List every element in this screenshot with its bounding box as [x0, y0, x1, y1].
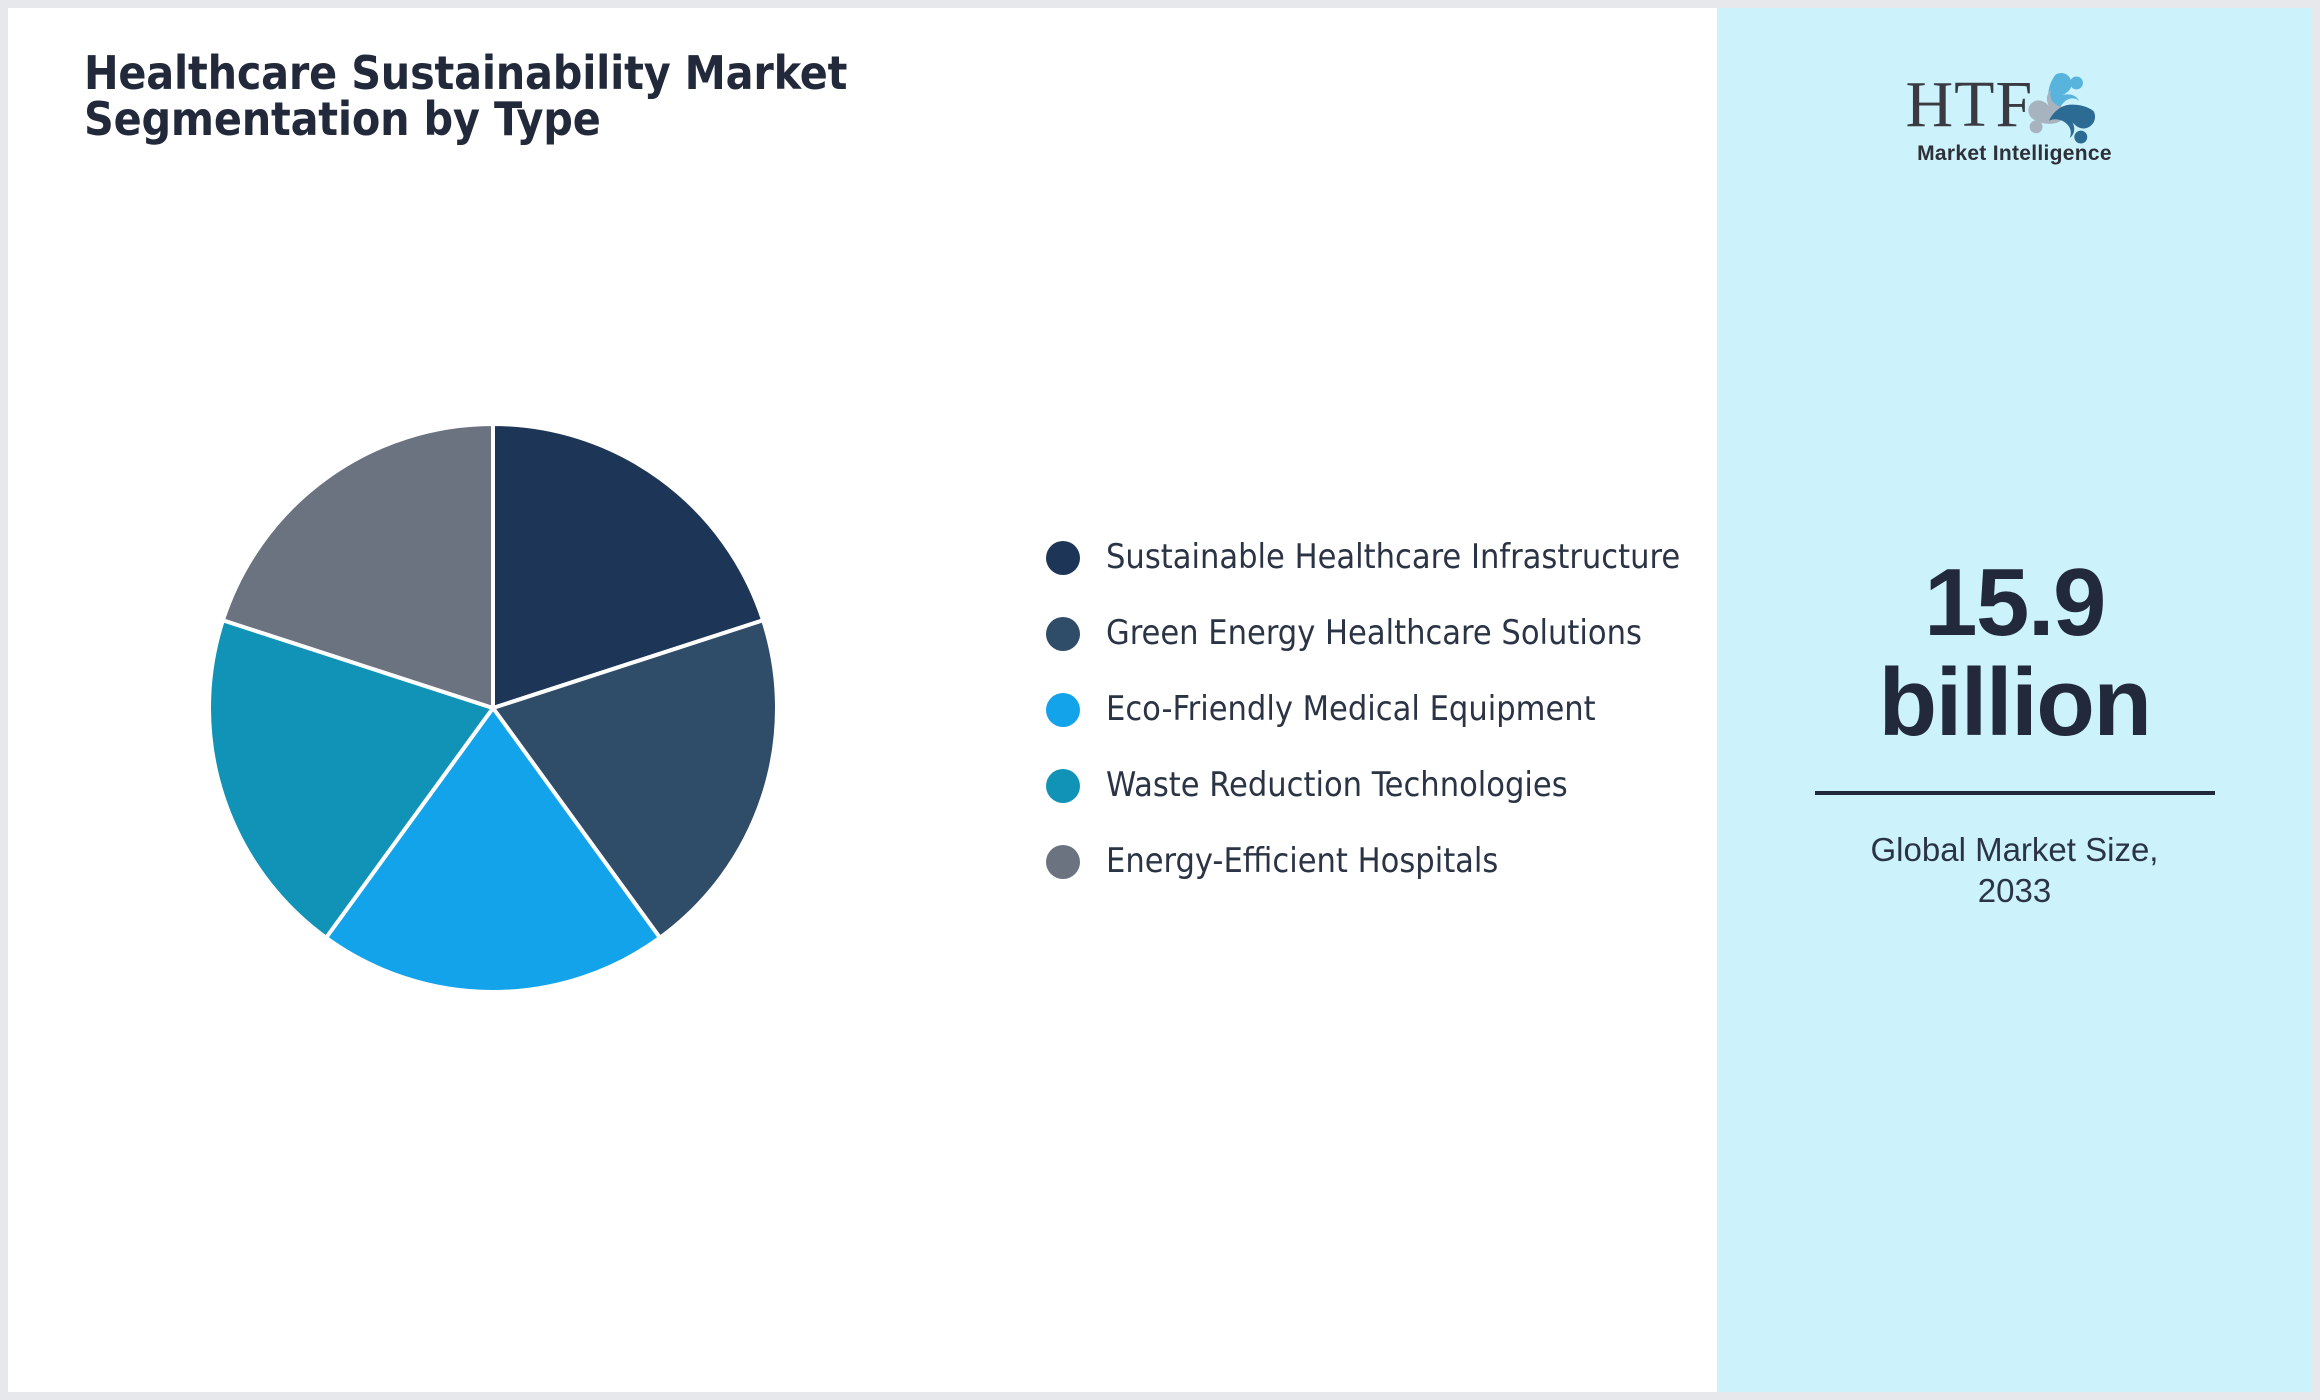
legend-swatch-icon	[1046, 769, 1080, 803]
legend-item-waste-reduction-technologies[interactable]: Waste Reduction Technologies	[1046, 760, 1686, 811]
pie-chart: Sustainable Healthcare Infrastructure — …	[205, 420, 781, 996]
chart-panel: Healthcare Sustainability Market Segment…	[8, 8, 1717, 1392]
legend-item-eco-friendly-medical-equipment[interactable]: Eco-Friendly Medical Equipment	[1046, 684, 1686, 735]
legend-swatch-icon	[1046, 617, 1080, 651]
brand-wordmark: HTF	[1906, 72, 2034, 138]
stat-caption: Global Market Size, 2033	[1805, 829, 2225, 912]
legend-swatch-icon	[1046, 541, 1080, 575]
legend-item-label: Energy-Efficient Hospitals	[1106, 843, 1498, 880]
legend-item-label: Sustainable Healthcare Infrastructure	[1106, 539, 1680, 576]
legend-item-label: Waste Reduction Technologies	[1106, 767, 1568, 804]
legend-item-label: Eco-Friendly Medical Equipment	[1106, 691, 1596, 728]
legend-item-label: Green Energy Healthcare Solutions	[1106, 615, 1642, 652]
page-title: Healthcare Sustainability Market Segment…	[84, 50, 1084, 142]
stat-divider	[1815, 791, 2215, 795]
stat-panel: HTF	[1717, 8, 2312, 1392]
stat-block: 15.9 billion Global Market Size, 2033	[1805, 553, 2225, 911]
legend-swatch-icon	[1046, 845, 1080, 879]
three-figures-circle-icon	[2018, 64, 2104, 150]
infographic-canvas: Healthcare Sustainability Market Segment…	[8, 8, 2312, 1392]
pie-chart-svg: Sustainable Healthcare Infrastructure — …	[205, 420, 781, 996]
legend-swatch-icon	[1046, 693, 1080, 727]
chart-legend: Sustainable Healthcare Infrastructure Gr…	[1046, 532, 1686, 887]
brand-logo-mark: HTF	[1890, 66, 2140, 146]
infographic-root: Healthcare Sustainability Market Segment…	[0, 0, 2320, 1400]
brand-logo[interactable]: HTF	[1890, 66, 2140, 166]
stat-value: 15.9 billion	[1805, 553, 2225, 753]
legend-item-green-energy-healthcare-solutions[interactable]: Green Energy Healthcare Solutions	[1046, 608, 1686, 659]
legend-item-energy-efficient-hospitals[interactable]: Energy-Efficient Hospitals	[1046, 836, 1686, 887]
legend-item-sustainable-healthcare-infrastructure[interactable]: Sustainable Healthcare Infrastructure	[1046, 532, 1686, 583]
